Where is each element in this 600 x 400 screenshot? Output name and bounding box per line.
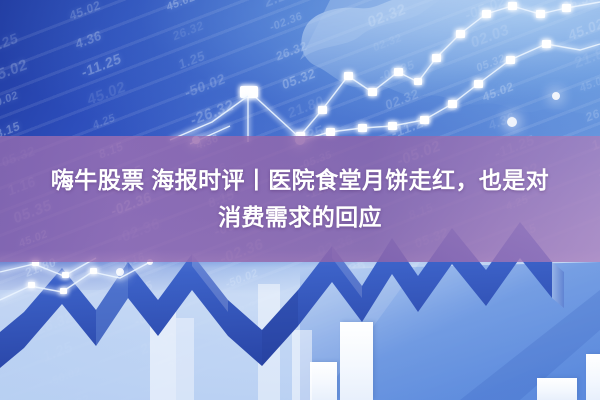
news-banner-image: -05.35-11.2545.0221.80-02.368.15-05.35-1… — [0, 0, 600, 400]
page-title: 嗨牛股票 海报时评丨医院食堂月饼走红，也是对 消费需求的回应 — [20, 162, 580, 236]
title-line-1: 嗨牛股票 海报时评丨医院食堂月饼走红，也是对 — [20, 162, 580, 199]
title-line-2: 消费需求的回应 — [20, 199, 580, 236]
title-overlay-band: 嗨牛股票 海报时评丨医院食堂月饼走红，也是对 消费需求的回应 — [0, 136, 600, 262]
